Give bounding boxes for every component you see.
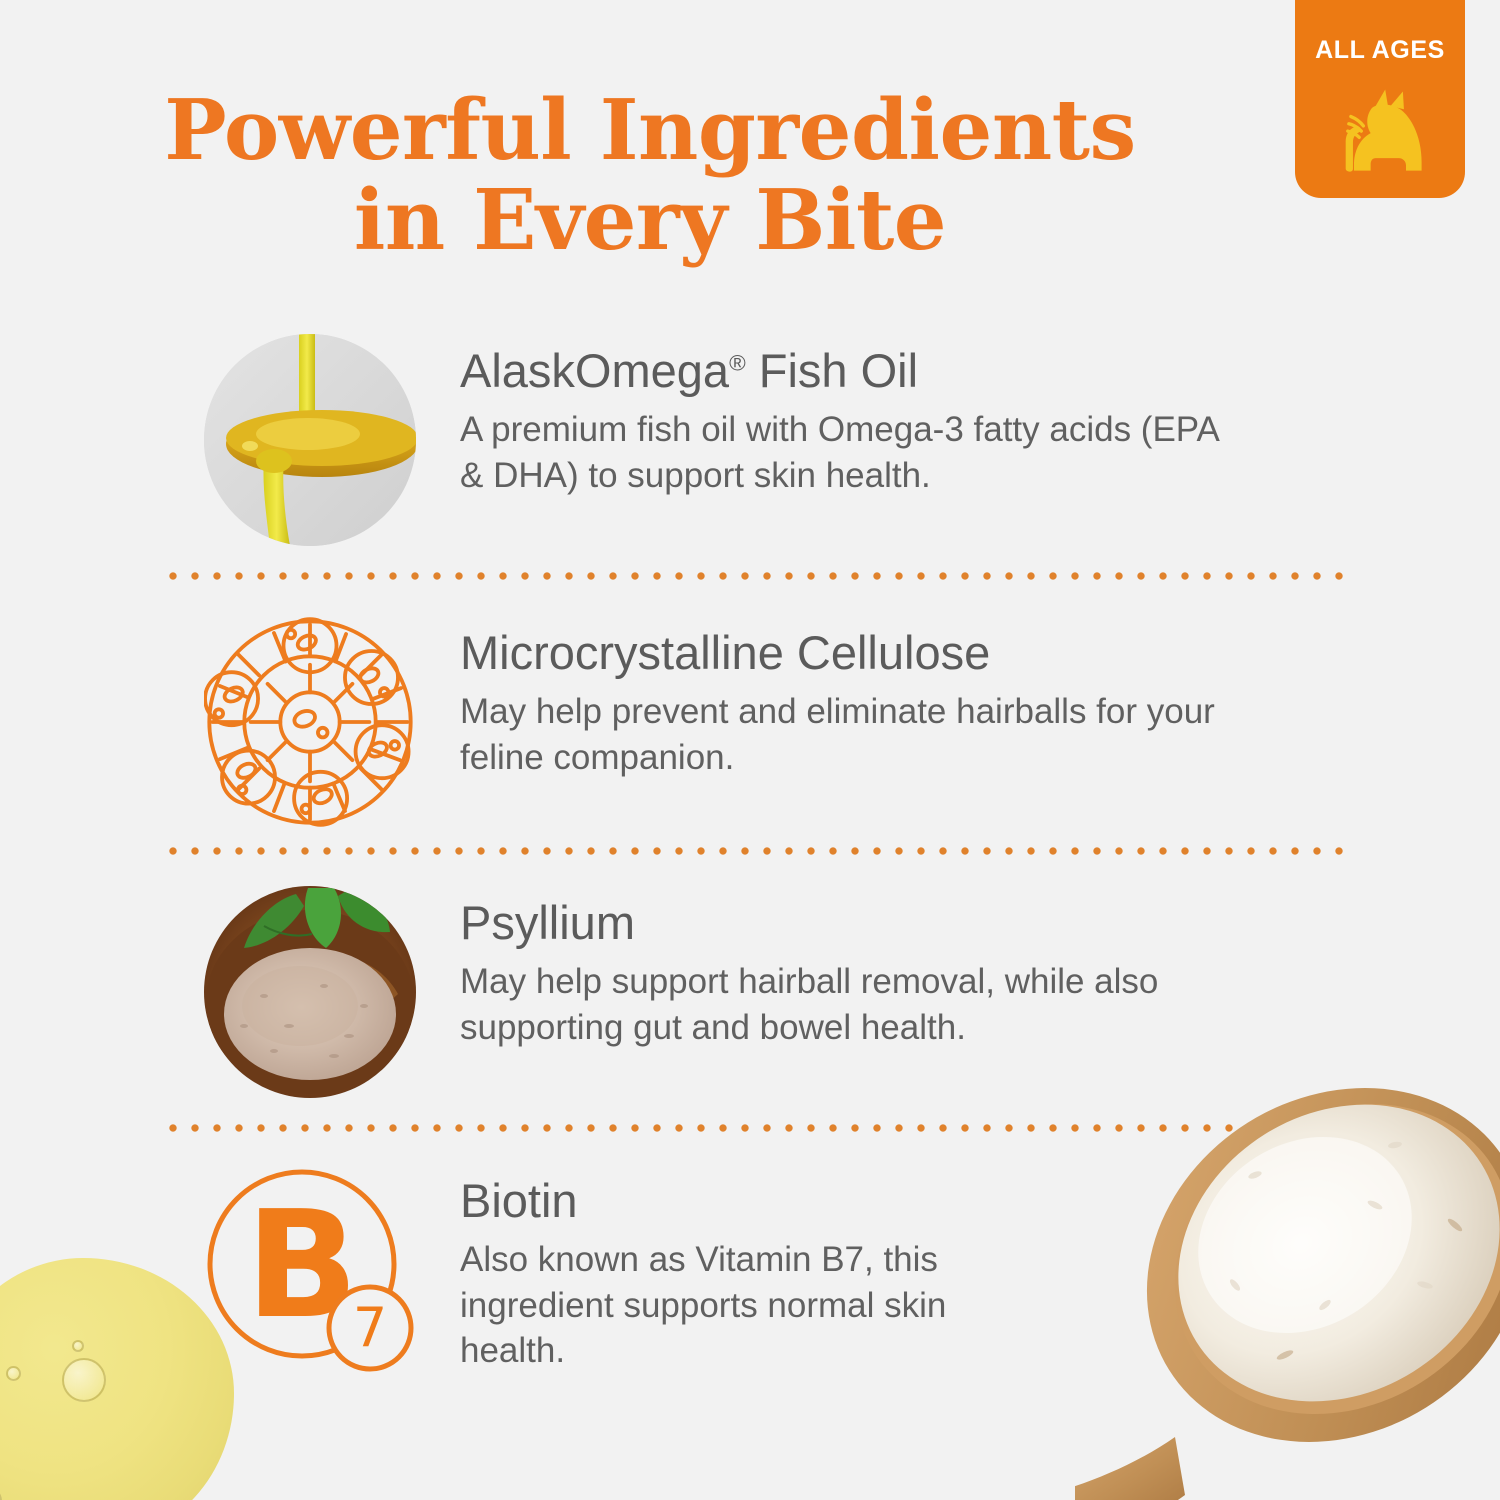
title-line-1: Powerful Ingredients — [60, 86, 1240, 176]
ingredient-title: AlaskOmega® Fish Oil — [460, 346, 1350, 395]
ingredient-description: May help support hairball removal, while… — [460, 959, 1250, 1050]
ingredient-description: May help prevent and eliminate hairballs… — [460, 689, 1250, 780]
all-ages-badge: ALL AGES — [1295, 0, 1465, 198]
ingredient-title: Psyllium — [460, 898, 1350, 947]
ingredient-description: Also known as Vitamin B7, this ingredien… — [460, 1237, 980, 1374]
svg-text:7: 7 — [353, 1296, 387, 1359]
dotted-divider-1 — [162, 570, 1348, 582]
text-column: AlaskOmega® Fish Oil A premium fish oil … — [460, 330, 1350, 498]
cellulose-cells-icon — [204, 616, 416, 828]
page-title: Powerful Ingredients in Every Bite — [60, 86, 1240, 265]
oil-bubble — [0, 1486, 2, 1500]
ingredient-row-cellulose: Microcrystalline Cellulose May help prev… — [160, 612, 1350, 828]
oil-bubble — [72, 1340, 84, 1352]
text-column: Psyllium May help support hairball remov… — [460, 882, 1350, 1050]
psyllium-husk-photo-icon — [204, 886, 416, 1098]
infographic-canvas: ALL AGES Powerful Ingredients in Every B… — [0, 0, 1500, 1500]
cat-silhouette-icon — [1328, 77, 1432, 181]
oil-bubble — [6, 1366, 21, 1381]
dotted-divider-2 — [162, 845, 1348, 857]
ingredient-row-fish-oil: AlaskOmega® Fish Oil A premium fish oil … — [160, 330, 1350, 546]
registered-mark: ® — [729, 350, 746, 375]
psyllium-spoon-image — [1075, 1055, 1500, 1500]
biotin-b7-icon: B 7 — [202, 1164, 418, 1380]
ingredient-title-suffix: Fish Oil — [746, 344, 918, 397]
oil-bubble — [62, 1358, 106, 1402]
ingredient-description: A premium fish oil with Omega-3 fatty ac… — [460, 407, 1250, 498]
badge-label: ALL AGES — [1315, 36, 1445, 65]
ingredient-title: Microcrystalline Cellulose — [460, 628, 1350, 677]
icon-column — [160, 882, 460, 1098]
title-line-2: in Every Bite — [60, 176, 1240, 266]
text-column: Microcrystalline Cellulose May help prev… — [460, 612, 1350, 780]
fish-oil-photo-icon — [204, 334, 416, 546]
ingredient-title-main: AlaskOmega — [460, 344, 729, 397]
icon-column — [160, 612, 460, 828]
icon-column — [160, 330, 460, 546]
